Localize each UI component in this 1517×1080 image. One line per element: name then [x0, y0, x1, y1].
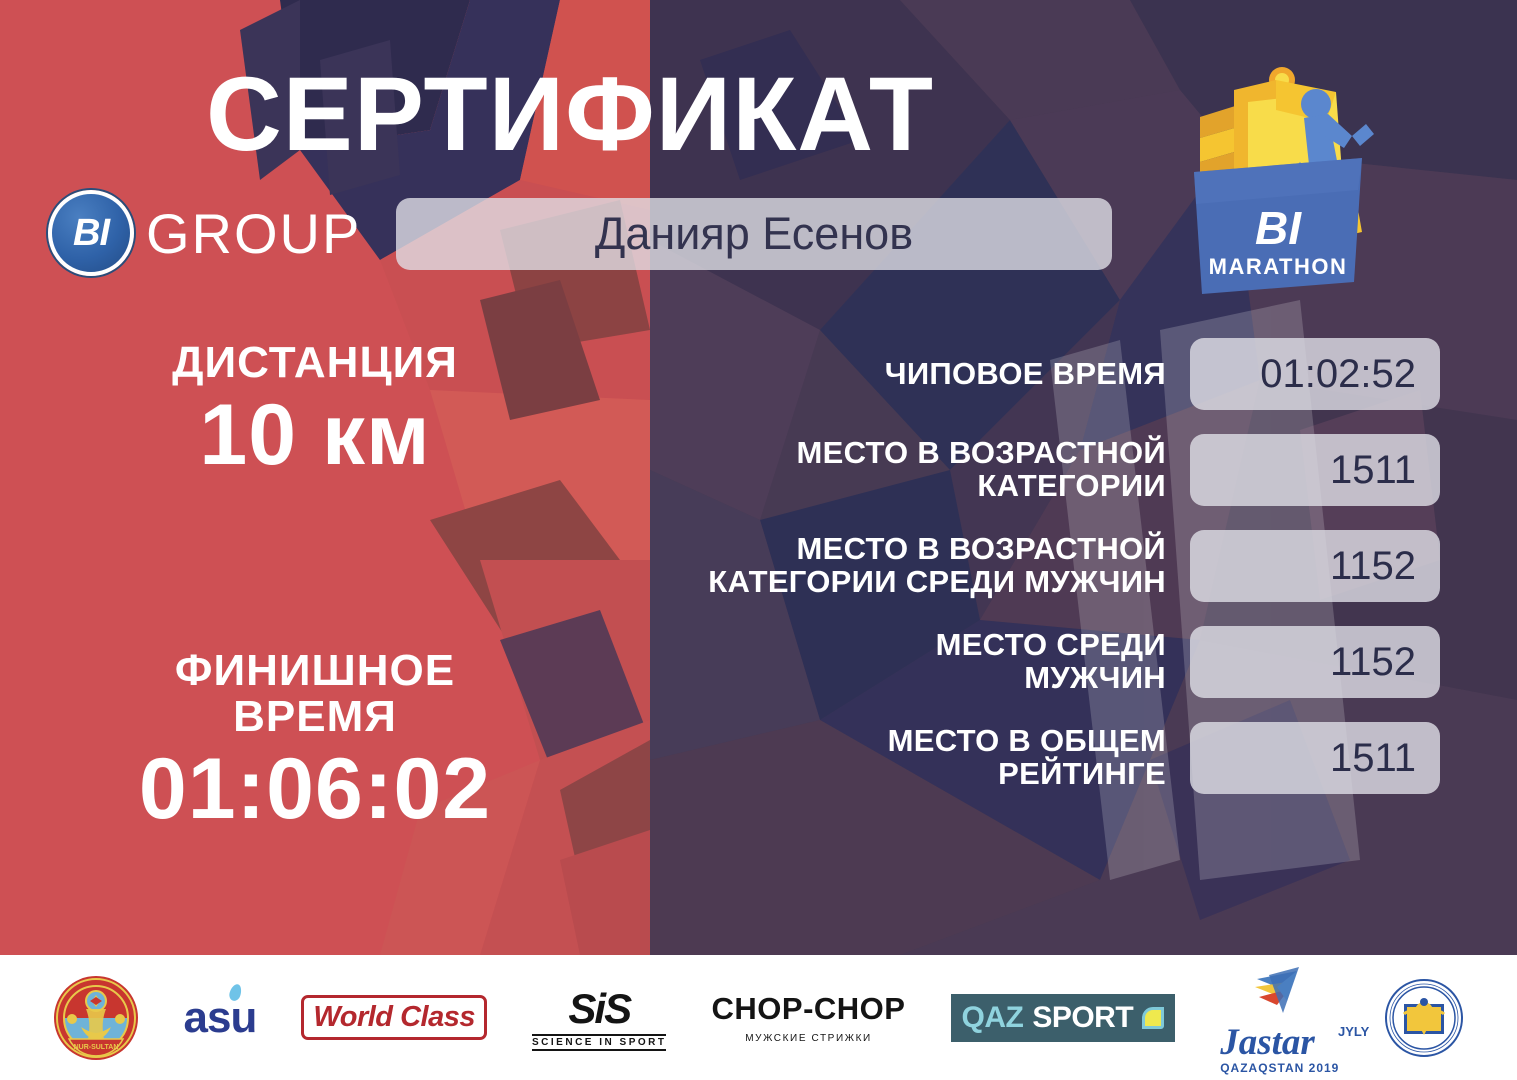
stat-row-overall-place: МЕСТО В ОБЩЕМ РЕЙТИНГЕ 1511 — [520, 722, 1440, 794]
page-title: СЕРТИФИКАТ — [0, 62, 1140, 167]
stat-row-chip-time: ЧИПОВОЕ ВРЕМЯ 01:02:52 — [520, 338, 1440, 410]
marathon-sub-text: MARATHON — [1209, 254, 1348, 279]
bi-marathon-logo: BI MARATHON — [1176, 62, 1386, 302]
sis-subtext: SCIENCE IN SPORT — [532, 1034, 666, 1051]
world-class-text2: Class — [400, 1001, 475, 1033]
qazsport-text2: SPORT — [1032, 1001, 1133, 1035]
ministry-emblem-icon — [1384, 978, 1464, 1058]
jastar-sub-text: QAZAQSTAN 2019 — [1220, 1061, 1339, 1075]
world-class-wordmark: World Class — [301, 995, 487, 1040]
stat-label-line2: КАТЕГОРИИ — [520, 470, 1166, 503]
stat-label-line2: МУЖЧИН — [520, 662, 1166, 695]
sponsor-qazsport: QAZ SPORT — [951, 994, 1176, 1042]
sponsor-asu: asu — [184, 993, 257, 1043]
bi-group-logo: BI GROUP — [48, 190, 361, 276]
stat-label-line1: МЕСТО В ВОЗРАСТНОЙ — [520, 437, 1166, 470]
bi-group-wordmark: GROUP — [146, 201, 361, 266]
stat-label-line1: МЕСТО В ОБЩЕМ — [520, 725, 1166, 758]
sponsor-sis: SiS SCIENCE IN SPORT — [532, 985, 666, 1051]
jastar-bird-icon — [1253, 961, 1307, 1017]
world-class-text1: World — [313, 1001, 392, 1033]
asu-text: asu — [184, 993, 257, 1042]
qazsport-text1: QAZ — [962, 1001, 1024, 1035]
jastar-text: Jastar — [1220, 1021, 1339, 1064]
stat-value: 1511 — [1190, 722, 1440, 794]
stat-value: 01:02:52 — [1190, 338, 1440, 410]
asu-wordmark: asu — [184, 993, 257, 1043]
sponsor-ministry-emblem — [1384, 978, 1464, 1058]
stat-row-age-category-place: МЕСТО В ВОЗРАСТНОЙ КАТЕГОРИИ 1511 — [520, 434, 1440, 506]
stats-list: ЧИПОВОЕ ВРЕМЯ 01:02:52 МЕСТО В ВОЗРАСТНО… — [520, 338, 1440, 818]
chop-chop-text: CHOP-CHOP — [712, 991, 906, 1027]
stat-label: МЕСТО СРЕДИ МУЖЧИН — [520, 629, 1190, 695]
sis-text: SiS — [568, 985, 630, 1033]
nur-sultan-text: NUR-SULTAN — [73, 1044, 118, 1051]
sponsor-jastar: Jastar JYLY QAZAQSTAN 2019 — [1220, 961, 1339, 1075]
marathon-bi-text: BI — [1255, 202, 1302, 254]
bi-badge-icon: BI — [48, 190, 134, 276]
nur-sultan-emblem-icon: NUR-SULTAN — [53, 975, 139, 1061]
chop-chop-subtext: МУЖСКИЕ СТРИЖКИ — [745, 1033, 872, 1044]
stat-label: МЕСТО В ВОЗРАСТНОЙ КАТЕГОРИИ — [520, 437, 1190, 503]
qazsport-wordmark: QAZ SPORT — [951, 994, 1176, 1042]
stat-value: 1511 — [1190, 434, 1440, 506]
sponsor-world-class: World Class — [301, 995, 487, 1040]
stat-value: 1152 — [1190, 626, 1440, 698]
stat-label: ЧИПОВОЕ ВРЕМЯ — [520, 358, 1190, 391]
sponsor-bar: NUR-SULTAN asu World Class SiS SCIENCE I… — [0, 955, 1517, 1080]
stat-label: МЕСТО В ВОЗРАСТНОЙ КАТЕГОРИИ СРЕДИ МУЖЧИ… — [520, 533, 1190, 599]
jastar-sup-text: JYLY — [1338, 1024, 1369, 1039]
jastar-wordmark: Jastar JYLY QAZAQSTAN 2019 — [1220, 1021, 1339, 1075]
stat-label-line1: ЧИПОВОЕ ВРЕМЯ — [520, 358, 1166, 391]
participant-name: Данияр Есенов — [396, 198, 1112, 270]
stat-label: МЕСТО В ОБЩЕМ РЕЙТИНГЕ — [520, 725, 1190, 791]
sponsor-nur-sultan-emblem: NUR-SULTAN — [53, 975, 139, 1061]
stat-label-line2: КАТЕГОРИИ СРЕДИ МУЖЧИН — [520, 566, 1166, 599]
stat-row-age-category-men-place: МЕСТО В ВОЗРАСТНОЙ КАТЕГОРИИ СРЕДИ МУЖЧИ… — [520, 530, 1440, 602]
stat-label-line2: РЕЙТИНГЕ — [520, 758, 1166, 791]
stat-row-men-place: МЕСТО СРЕДИ МУЖЧИН 1152 — [520, 626, 1440, 698]
stat-value: 1152 — [1190, 530, 1440, 602]
qazsport-square-icon — [1142, 1007, 1164, 1029]
stat-label-line1: МЕСТО В ВОЗРАСТНОЙ — [520, 533, 1166, 566]
certificate-page: СЕРТИФИКАТ BI GROUP Данияр Есенов — [0, 0, 1517, 1080]
sponsor-chop-chop: CHOP-CHOP МУЖСКИЕ СТРИЖКИ — [712, 991, 906, 1044]
stat-label-line1: МЕСТО СРЕДИ — [520, 629, 1166, 662]
